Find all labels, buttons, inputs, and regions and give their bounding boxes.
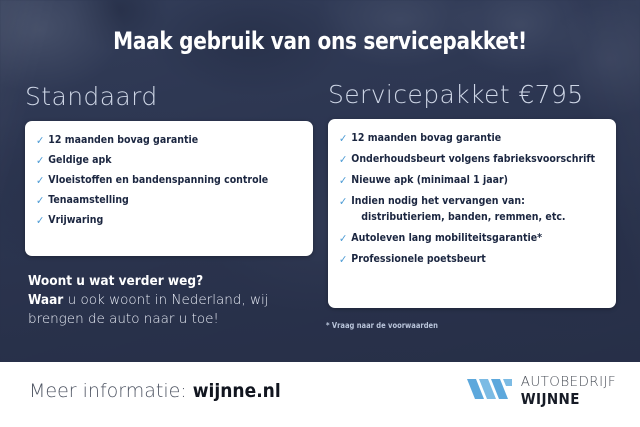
footer-bar: Meer informatie: wijnne.nl AUTOBEDRIJF W… <box>0 362 640 427</box>
list-item: ✓ Onderhoudsbeurt volgens fabrieksvoorsc… <box>328 153 616 166</box>
list-item-body: Indien nodig het vervangen van: distribu… <box>351 195 565 224</box>
check-icon: ✓ <box>339 132 347 145</box>
check-icon: ✓ <box>36 194 44 207</box>
list-item-label: Professionele poetsbeurt <box>351 253 486 266</box>
standard-features-list: ✓ 12 maanden bovag garantie ✓ Geldige ap… <box>25 121 313 227</box>
list-item: ✓ Tenaamstelling <box>25 194 313 207</box>
check-icon: ✓ <box>36 214 44 227</box>
check-icon: ✓ <box>339 153 347 166</box>
standard-column-heading: Standaard <box>25 82 158 111</box>
list-item: ✓ 12 maanden bovag garantie <box>25 134 313 147</box>
service-features-list: ✓ 12 maanden bovag garantie ✓ Onderhouds… <box>328 119 616 266</box>
service-column-heading: Servicepakket €795 <box>328 80 584 109</box>
more-information-label: Meer informatie: <box>29 380 193 402</box>
promo-question-text: Woont u wat verder weg? <box>28 273 203 289</box>
service-features-card: ✓ 12 maanden bovag garantie ✓ Onderhouds… <box>328 119 616 308</box>
logo-top-text: AUTOBEDRIJF <box>521 376 616 390</box>
list-item: ✓ Nieuwe apk (minimaal 1 jaar) <box>328 174 616 187</box>
list-item-label: Tenaamstelling <box>48 194 129 207</box>
company-logo[interactable]: AUTOBEDRIJF WIJNNE <box>467 376 616 407</box>
service-footnote: * Vraag naar de voorwaarden <box>326 321 438 330</box>
check-icon: ✓ <box>339 174 347 187</box>
website-link[interactable]: wijnne.nl <box>193 380 281 402</box>
list-item-label: Indien nodig het vervangen van: <box>351 195 565 208</box>
list-item-label: Autoleven lang mobiliteitsgarantie* <box>351 232 542 245</box>
list-item-label: Vrijwaring <box>48 214 103 227</box>
banner-headline: Maak gebruik van ons servicepakket! <box>22 27 617 55</box>
standard-features-card: ✓ 12 maanden bovag garantie ✓ Geldige ap… <box>25 121 313 256</box>
check-icon: ✓ <box>36 134 44 147</box>
list-item-label: 12 maanden bovag garantie <box>48 134 198 147</box>
list-item: ✓ Professionele poetsbeurt <box>328 253 616 266</box>
check-icon: ✓ <box>339 195 347 208</box>
list-item-label: Onderhoudsbeurt volgens fabrieksvoorschr… <box>351 153 595 166</box>
check-icon: ✓ <box>36 154 44 167</box>
service-package-banner: Maak gebruik van ons servicepakket! Stan… <box>0 0 640 427</box>
list-item-label: Vloeistoffen en bandenspanning controle <box>48 174 268 187</box>
check-icon: ✓ <box>339 253 347 266</box>
list-item-label: 12 maanden bovag garantie <box>351 132 501 145</box>
delivery-promo-text: Woont u wat verder weg? Waar u ook woont… <box>28 272 318 329</box>
list-item: ✓ 12 maanden bovag garantie <box>328 132 616 145</box>
more-information-text: Meer informatie: wijnne.nl <box>29 380 281 402</box>
promo-answer-strong: Waar <box>28 292 63 308</box>
check-icon: ✓ <box>339 232 347 245</box>
list-item-sublabel: distributieriem, banden, remmen, etc. <box>351 211 565 224</box>
list-item: ✓ Indien nodig het vervangen van: distri… <box>328 195 616 224</box>
list-item: ✓ Vloeistoffen en bandenspanning control… <box>25 174 313 187</box>
promo-question: Woont u wat verder weg? <box>28 272 318 291</box>
logo-bottom-text: WIJNNE <box>521 392 616 407</box>
banner-content: Maak gebruik van ons servicepakket! Stan… <box>0 0 640 427</box>
list-item-label: Geldige apk <box>48 154 111 167</box>
promo-answer-line-1: Waar u ook woont in Nederland, wij <box>28 291 318 310</box>
list-item-label: Nieuwe apk (minimaal 1 jaar) <box>351 174 508 187</box>
list-item: ✓ Vrijwaring <box>25 214 313 227</box>
list-item: ✓ Geldige apk <box>25 154 313 167</box>
list-item: ✓ Autoleven lang mobiliteitsgarantie* <box>328 232 616 245</box>
logo-wordmark: AUTOBEDRIJF WIJNNE <box>521 376 616 407</box>
check-icon: ✓ <box>36 174 44 187</box>
promo-answer-line-2: brengen de auto naar u toe! <box>28 310 318 329</box>
w-chevron-logo-icon <box>467 377 513 406</box>
promo-answer-rest: u ook woont in Nederland, wij <box>63 292 268 308</box>
